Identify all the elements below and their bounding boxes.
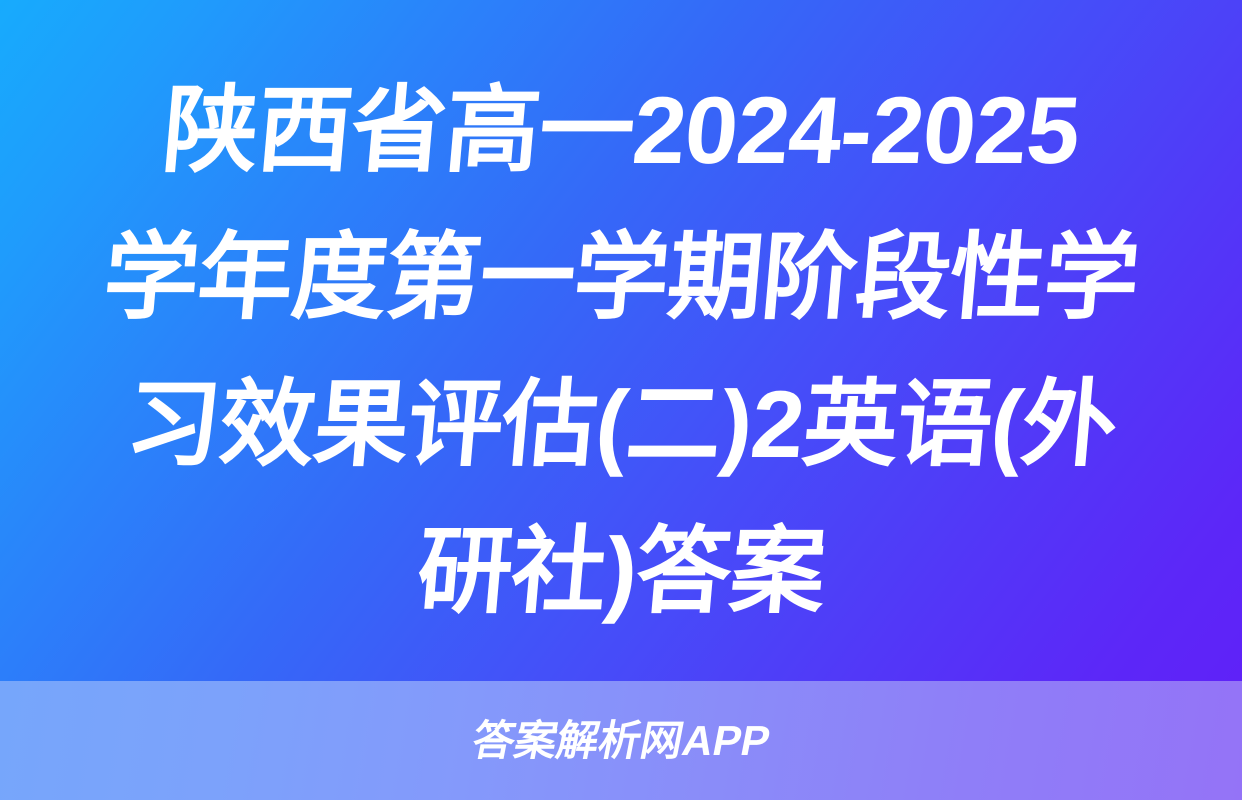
page-title: 陕西省高一2024-2025 学年度第一学期阶段性学 习效果评估(二)2英语(外… [0,0,1242,681]
title-line-3: 习效果评估(二)2英语(外 [90,352,1153,499]
title-line-2: 学年度第一学期阶段性学 [90,205,1153,352]
footer-watermark: 答案解析网APP [0,681,1242,800]
title-line-4: 研社)答案 [90,499,1153,646]
answer-card: 陕西省高一2024-2025 学年度第一学期阶段性学 习效果评估(二)2英语(外… [0,0,1242,800]
watermark-label: 答案解析网APP [468,718,773,764]
title-line-1: 陕西省高一2024-2025 [90,58,1153,205]
